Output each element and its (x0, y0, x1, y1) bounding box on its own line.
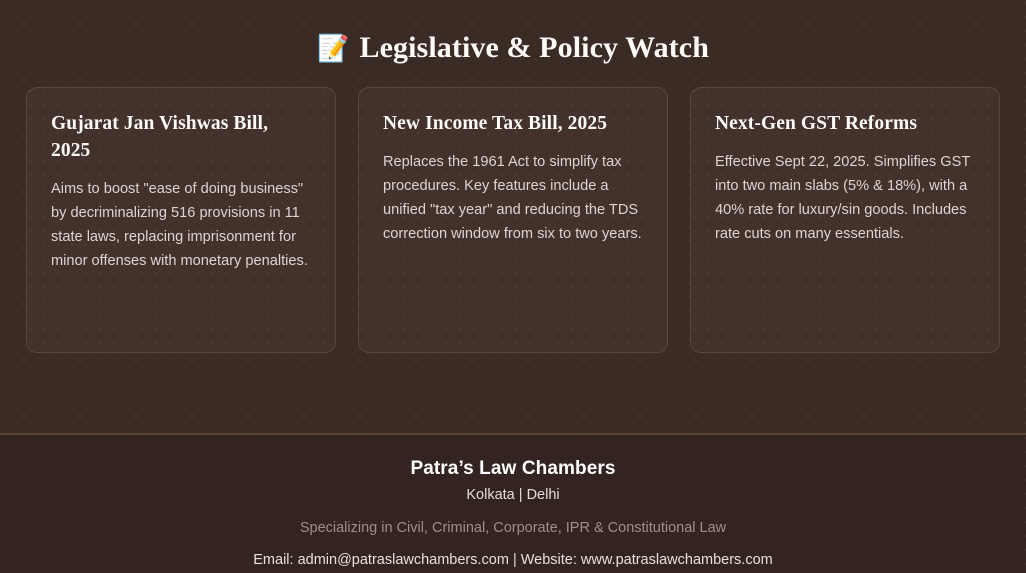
policy-card[interactable]: Next-Gen GST Reforms Effective Sept 22, … (690, 87, 1000, 353)
policy-card-title: New Income Tax Bill, 2025 (383, 110, 643, 137)
firm-name: Patra’s Law Chambers (20, 457, 1006, 480)
main-content: 📝 Legislative & Policy Watch Gujarat Jan… (0, 0, 1026, 353)
policy-card[interactable]: New Income Tax Bill, 2025 Replaces the 1… (358, 87, 668, 353)
firm-contact: Email: admin@patraslawchambers.com | Web… (20, 550, 1006, 570)
site-footer: Patra’s Law Chambers Kolkata | Delhi Spe… (0, 433, 1026, 573)
policy-card-body: Effective Sept 22, 2025. Simplifies GST … (715, 150, 975, 246)
policy-card-title: Gujarat Jan Vishwas Bill, 2025 (51, 110, 311, 164)
policy-card-body: Aims to boost "ease of doing business" b… (51, 177, 311, 273)
policy-cards-row: Gujarat Jan Vishwas Bill, 2025 Aims to b… (26, 87, 1000, 353)
memo-icon: 📝 (317, 36, 349, 62)
page-title: 📝 Legislative & Policy Watch (26, 0, 1000, 63)
policy-card-body: Replaces the 1961 Act to simplify tax pr… (383, 150, 643, 246)
firm-locations: Kolkata | Delhi (20, 485, 1006, 505)
page-title-text: Legislative & Policy Watch (359, 33, 709, 63)
policy-card-title: Next-Gen GST Reforms (715, 110, 975, 137)
firm-specialization: Specializing in Civil, Criminal, Corpora… (20, 518, 1006, 538)
policy-card[interactable]: Gujarat Jan Vishwas Bill, 2025 Aims to b… (26, 87, 336, 353)
